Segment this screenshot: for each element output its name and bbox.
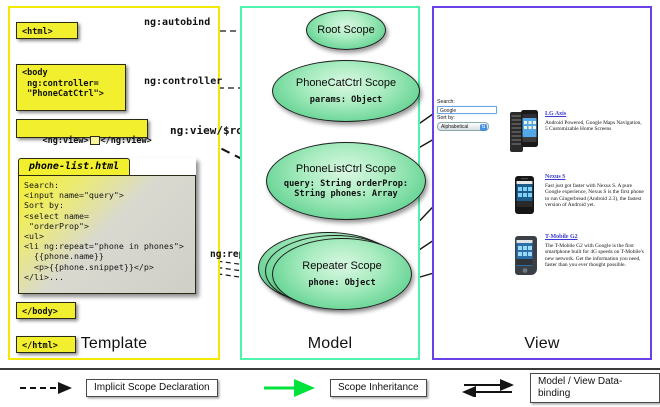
label-ng-controller: ng:controller — [144, 76, 222, 87]
phone-name-link[interactable]: Nexus S — [545, 173, 645, 181]
bidirectional-arrow-icon — [462, 379, 524, 397]
list-item[interactable]: Nexus S Fast just got faster with Nexus … — [509, 173, 645, 217]
scope-repeater-props: phone: Object — [308, 278, 375, 288]
template-file-card: phone-list.html Search: <input name="que… — [18, 158, 196, 294]
template-file-tab: phone-list.html — [18, 158, 130, 176]
scope-phonecatctrl-props: params: Object — [310, 95, 382, 105]
scope-root: Root Scope — [306, 10, 386, 50]
sort-select[interactable]: Alphabetical ⇅ — [437, 122, 489, 131]
scope-root-title: Root Scope — [317, 24, 374, 37]
phone-info: LG Axis Android Powered, Google Maps Nav… — [545, 110, 645, 154]
diagram-canvas: Template <html> <body ng:controller= "Ph… — [0, 0, 660, 405]
scope-phonelistctrl: PhoneListCtrl Scope query: String orderP… — [266, 142, 426, 220]
panel-model-label: Model — [242, 335, 418, 353]
template-element-body-open: <body ng:controller= "PhoneCatCtrl"> — [16, 64, 126, 111]
list-item[interactable]: T-Mobile G2 The T-Mobile G2 with Google … — [509, 233, 645, 277]
view-search-form: Search: Google Sort by: Alphabetical ⇅ — [437, 99, 501, 131]
search-input[interactable]: Google — [437, 106, 497, 114]
template-element-html-open: <html> — [16, 22, 78, 39]
legend: Implicit Scope Declaration Scope Inherit… — [0, 368, 660, 407]
template-element-ng-view: <ng:view></ng:view> — [16, 119, 148, 138]
list-item[interactable]: LG Axis Android Powered, Google Maps Nav… — [509, 110, 645, 154]
template-element-html-close: </html> — [16, 336, 76, 353]
phone-description: Android Powered, Google Maps Navigation,… — [545, 120, 645, 133]
dashed-arrow-icon — [18, 379, 80, 397]
legend-item-scope-inheritance: Scope Inheritance — [262, 378, 427, 398]
scope-phonelistctrl-props: query: String orderProp: String phones: … — [267, 179, 425, 199]
scope-repeater-title: Repeater Scope — [302, 260, 382, 273]
panel-view-label: View — [434, 335, 650, 353]
legend-item-model-view-data-binding: Model / View Data-binding — [462, 378, 660, 398]
legend-label: Implicit Scope Declaration — [86, 379, 218, 397]
phone-description: The T-Mobile G2 with Google is the first… — [545, 243, 645, 269]
template-file-name: phone-list.html — [19, 159, 129, 175]
ng-view-close-tag: </ng:view> — [101, 136, 152, 146]
phone-description: Fast just got faster with Nexus S. A pur… — [545, 183, 645, 209]
phone-info: T-Mobile G2 The T-Mobile G2 with Google … — [545, 233, 645, 277]
ng-view-placeholder-icon — [90, 136, 100, 145]
label-ng-autobind: ng:autobind — [144, 17, 210, 28]
search-label: Search: — [437, 99, 501, 106]
legend-label: Model / View Data-binding — [530, 373, 660, 403]
chevron-updown-icon: ⇅ — [480, 124, 487, 131]
legend-item-implicit-scope-declaration: Implicit Scope Declaration — [18, 378, 218, 398]
phone-name-link[interactable]: T-Mobile G2 — [545, 233, 645, 241]
phone-thumbnail-curvedchin-icon — [509, 233, 539, 277]
ng-view-open-tag: <ng:view> — [42, 136, 88, 146]
phone-name-link[interactable]: LG Axis — [545, 110, 645, 118]
scope-phonecatctrl: PhoneCatCtrl Scope params: Object — [272, 60, 420, 122]
scope-repeater: Repeater Scope phone: Object — [272, 238, 412, 310]
sort-select-value: Alphabetical — [441, 124, 468, 130]
template-file-code: Search: <input name="query"> Sort by: <s… — [18, 175, 196, 294]
phone-thumbnail-candybar-icon — [509, 173, 539, 217]
phone-info: Nexus S Fast just got faster with Nexus … — [545, 173, 645, 217]
phone-thumbnail-slider-icon — [509, 110, 539, 154]
scope-phonecatctrl-title: PhoneCatCtrl Scope — [296, 77, 396, 90]
template-element-body-close: </body> — [16, 302, 76, 319]
legend-label: Scope Inheritance — [330, 379, 427, 397]
green-arrow-icon — [262, 379, 324, 397]
scope-phonelistctrl-title: PhoneListCtrl Scope — [296, 163, 396, 176]
sort-label: Sort by: — [437, 115, 501, 122]
